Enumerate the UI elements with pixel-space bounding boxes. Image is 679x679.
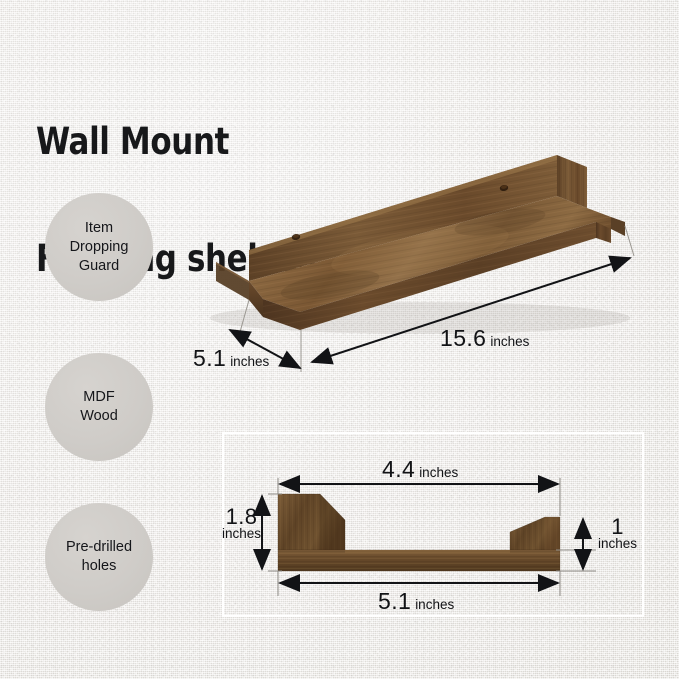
dimension-value: 15.6 xyxy=(440,325,486,351)
dimension-unit: inches xyxy=(419,465,458,480)
dimension-value: 1 xyxy=(598,518,637,535)
dimension-label-front-lip-height: 1inches xyxy=(598,518,637,552)
dimension-value: 4.4 xyxy=(382,456,415,482)
dimension-label-length: 15.6inches xyxy=(440,325,529,352)
dimension-unit: inches xyxy=(490,334,529,349)
title-line-1: Wall Mount xyxy=(36,122,316,161)
dimension-value: 5.1 xyxy=(193,345,226,371)
dimension-unit: inches xyxy=(230,354,269,369)
dimension-label-depth: 5.1inches xyxy=(193,345,269,372)
dimension-label-back-lip-height: 1.8inches xyxy=(222,508,261,542)
dimension-unit: inches xyxy=(222,525,261,542)
shelf-right-end-tab xyxy=(596,217,625,243)
dimension-label-inner-width: 4.4inches xyxy=(382,456,458,483)
feature-badge-label: MDF Wood xyxy=(80,388,118,426)
feature-badge-pre-drilled-holes: Pre-drilled holes xyxy=(45,503,153,611)
dimension-value: 5.1 xyxy=(378,588,411,614)
feature-badge-label: Item Dropping Guard xyxy=(70,219,129,276)
dimension-unit: inches xyxy=(598,535,637,552)
feature-badge-item-dropping-guard: Item Dropping Guard xyxy=(45,193,153,301)
pre-drilled-hole-right xyxy=(499,184,508,191)
feature-badge-mdf-wood: MDF Wood xyxy=(45,353,153,461)
dimension-unit: inches xyxy=(415,597,454,612)
dimension-value: 1.8 xyxy=(222,508,261,525)
product-infographic: Wall Mount Floating shelves Item Droppin… xyxy=(0,0,679,679)
dimension-label-total-width: 5.1inches xyxy=(378,588,454,615)
feature-badge-label: Pre-drilled holes xyxy=(66,538,132,576)
